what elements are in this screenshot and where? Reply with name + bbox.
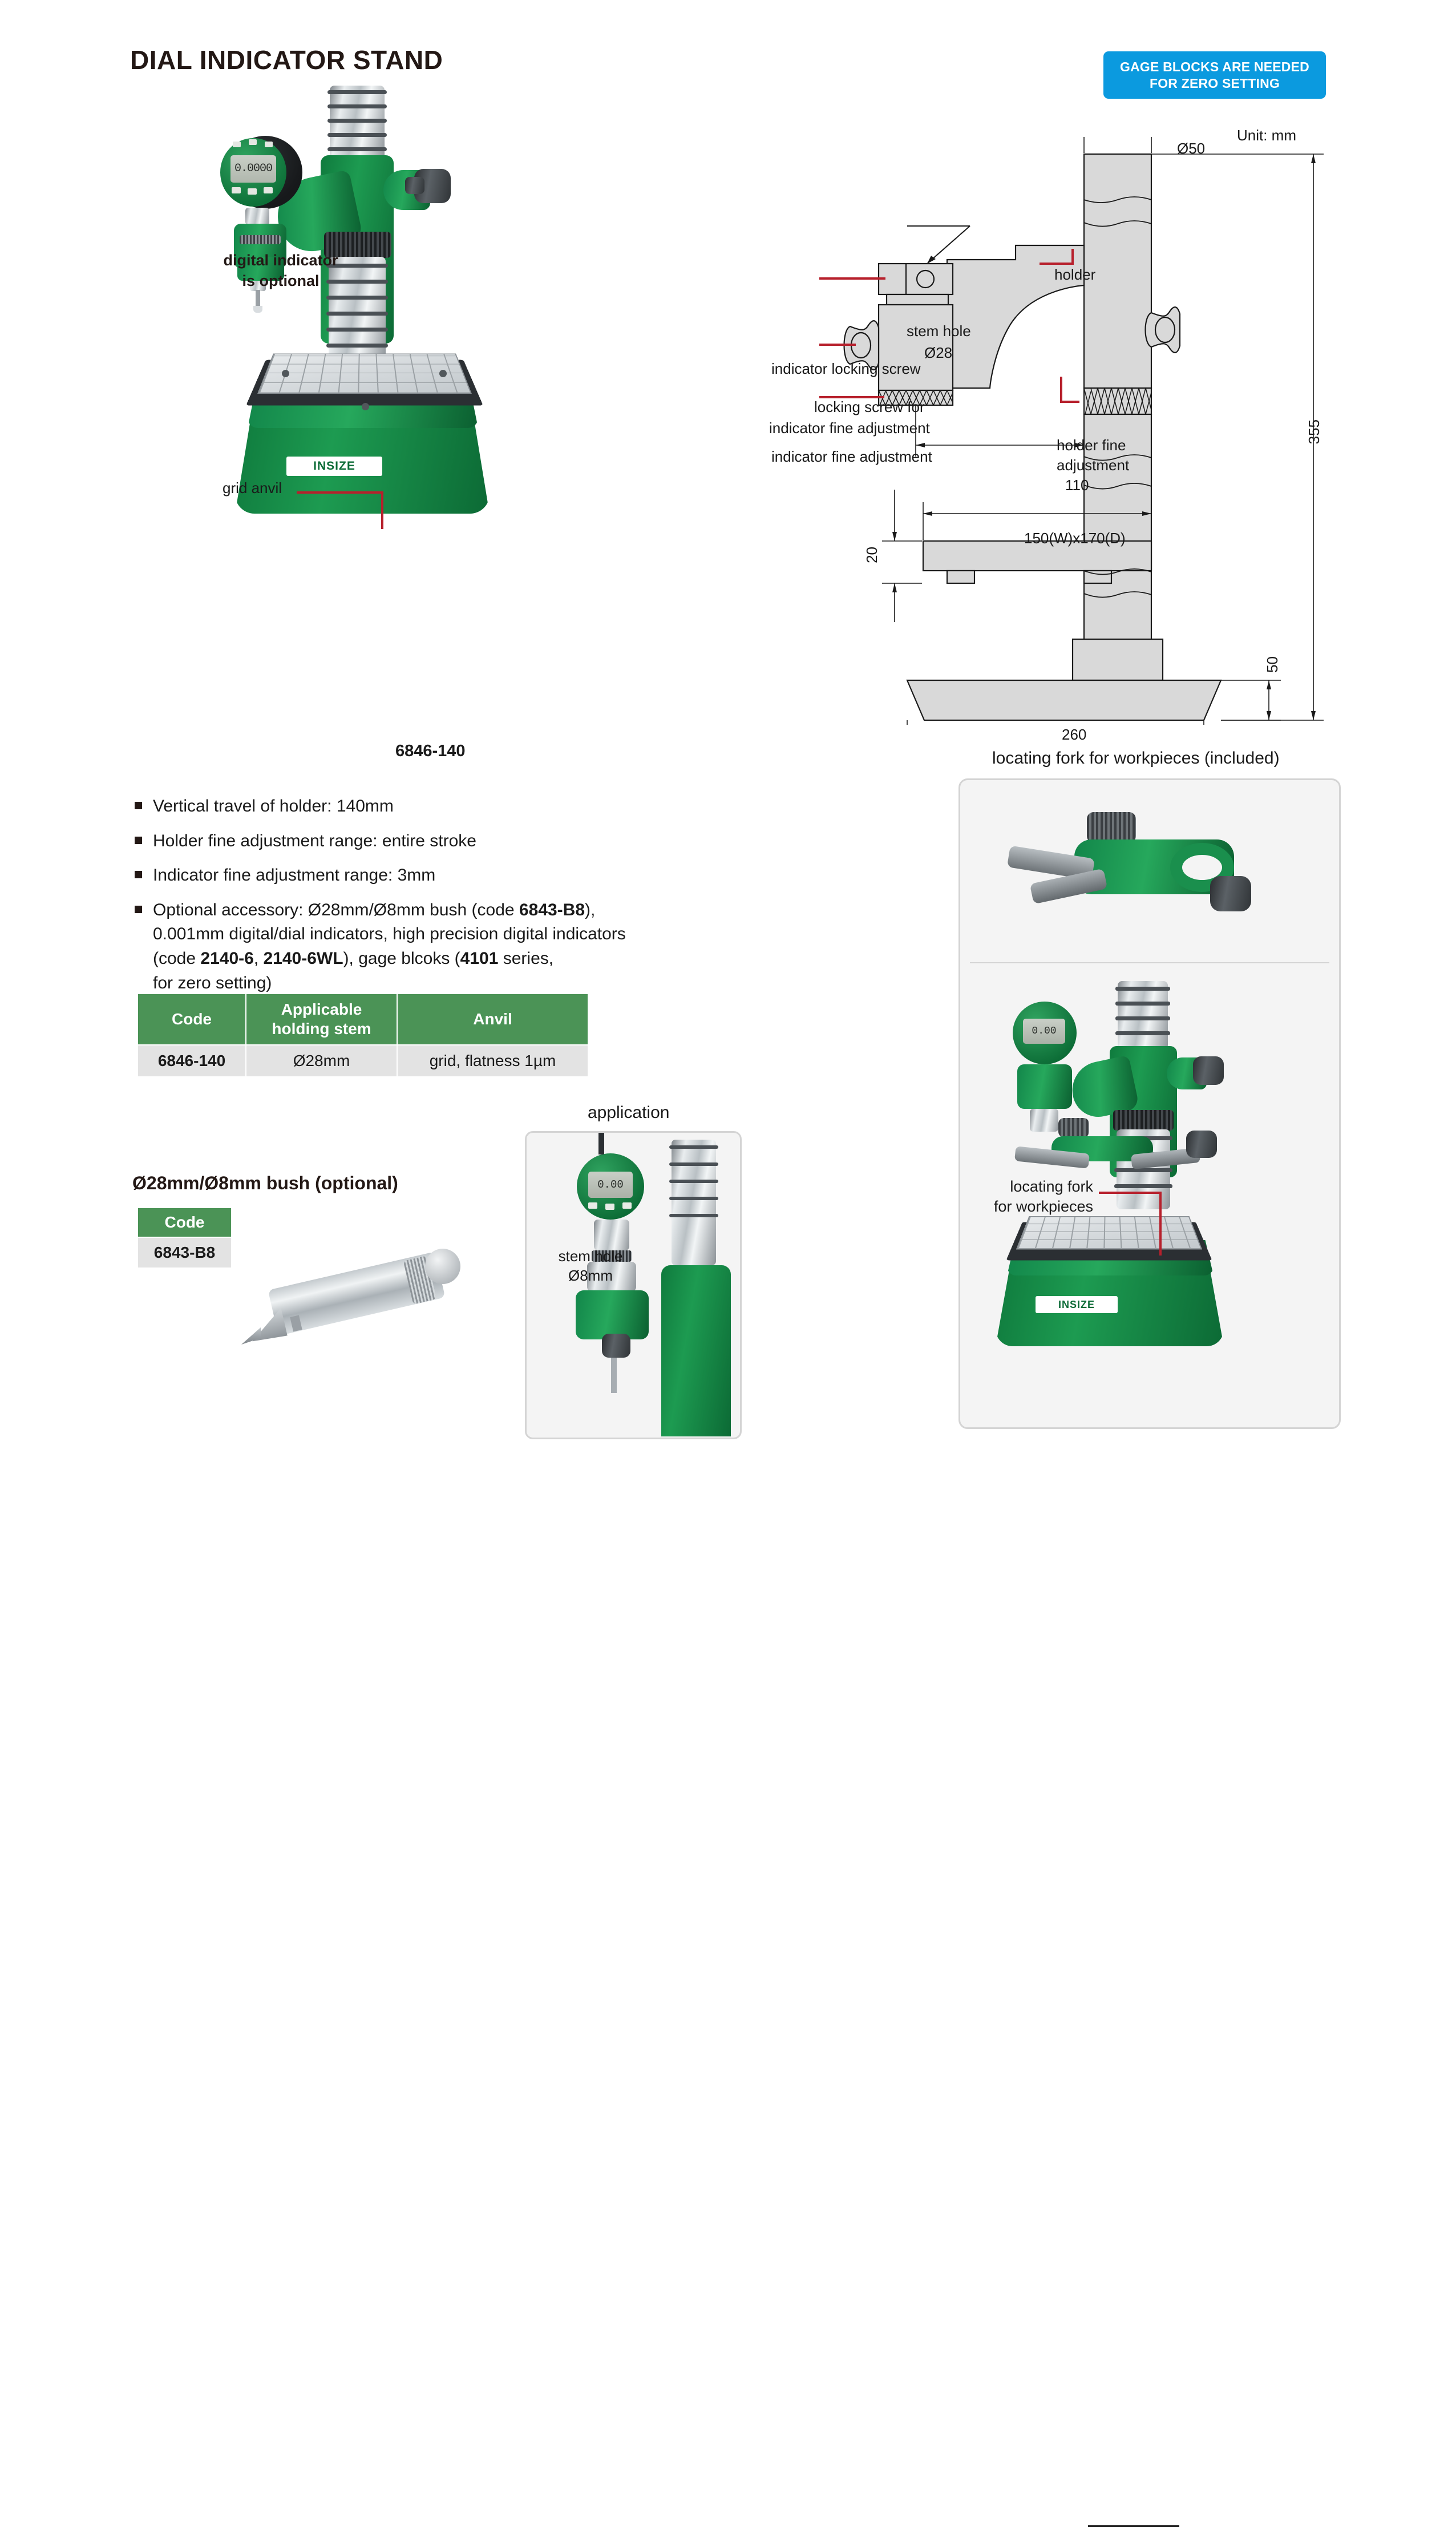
dimension-column-diameter: Ø50 [1177, 140, 1205, 158]
table-row: 6843-B8 [137, 1237, 232, 1268]
drawing-label-holder: holder [1054, 266, 1095, 284]
column-header-holding-stem: Applicable holding stem [246, 994, 397, 1045]
grid-anvil-leader-drop [381, 491, 383, 529]
drawing-label-locking-screw-fine-l1: locking screw for [814, 398, 925, 416]
cell-bush-code: 6843-B8 [137, 1237, 232, 1268]
cell-anvil: grid, flatness 1µm [397, 1045, 588, 1077]
fork-callout-line-2: for workpieces [990, 1197, 1093, 1217]
spec-item-vertical-travel: Vertical travel of holder: 140mm [132, 794, 771, 819]
cell-code: 6846-140 [137, 1045, 246, 1077]
application-title: application [588, 1103, 669, 1123]
stem-hole-line-1: stem hole [545, 1247, 636, 1266]
product-code-caption: 6846-140 [395, 742, 466, 761]
dimension-reach: 110 [1065, 477, 1089, 494]
fork-leader-vertical [1159, 1192, 1162, 1256]
banner-line-2: FOR ZERO SETTING [1109, 75, 1320, 92]
drawing-label-stem-hole-dia: Ø28 [924, 344, 952, 362]
holding-stem-line-2: holding stem [254, 1019, 389, 1039]
locating-fork-title: locating fork for workpieces (included) [992, 749, 1280, 768]
dimension-base-height: 50 [1264, 656, 1281, 673]
digital-indicator-optional-note: digital indicator is optional [212, 250, 349, 292]
table-header-row: Code Applicable holding stem Anvil [137, 994, 588, 1045]
spec-item-indicator-fine-adjust: Indicator fine adjustment range: 3mm [132, 863, 771, 888]
banner-line-1: GAGE BLOCKS ARE NEEDED [1109, 59, 1320, 75]
specification-list: Vertical travel of holder: 140mm Holder … [132, 794, 771, 1006]
indicator-display-value: 0.0000 [233, 162, 274, 175]
cell-holding-stem: Ø28mm [246, 1045, 397, 1077]
locating-fork-panel: 0.00 INSIZE [958, 778, 1341, 1429]
bush-code-table: Code 6843-B8 [137, 1207, 232, 1269]
bush-table-header-row: Code [137, 1208, 232, 1237]
fork-grid-anvil-plate [1016, 1216, 1203, 1250]
product-photo-6846-140: 0.0000 INSIZE [223, 86, 702, 730]
column-header-anvil: Anvil [397, 994, 588, 1045]
drawing-label-locking-screw-fine-l2: indicator fine adjustment [769, 419, 930, 437]
drawing-label-indicator-locking-screw: indicator locking screw [771, 360, 921, 378]
stem-hole-line-2: Ø8mm [545, 1266, 636, 1286]
grid-anvil-label: grid anvil [223, 479, 282, 497]
application-stem-hole-label: stem hole Ø8mm [545, 1247, 636, 1286]
drawing-label-holder-fine-l2: adjustment [1057, 457, 1129, 474]
column-header-bush-code: Code [137, 1208, 232, 1237]
dimension-table-size: 150(W)x170(D) [1024, 530, 1126, 547]
dimension-base-width: 260 [1062, 726, 1086, 744]
fork-leader-horizontal [1099, 1192, 1162, 1194]
dimension-total-height: 355 [1305, 419, 1323, 444]
fork-callout-line-1: locating fork [990, 1177, 1093, 1197]
spec-item-optional-accessory: Optional accessory: Ø28mm/Ø8mm bush (cod… [132, 898, 771, 995]
optional-note-line-1: digital indicator [212, 250, 349, 271]
spec-item-holder-fine-adjust: Holder fine adjustment range: entire str… [132, 829, 771, 854]
drawing-label-stem-hole: stem hole [907, 322, 971, 340]
dimension-table-thickness: 20 [863, 547, 881, 563]
fork-indicator-display-value: 0.00 [1024, 1026, 1064, 1037]
holding-stem-line-1: Applicable [254, 1000, 389, 1019]
column-header-code: Code [137, 994, 246, 1045]
bush-photo [237, 1216, 505, 1375]
fork-brand-logo: INSIZE [1036, 1296, 1118, 1313]
drawing-label-holder-fine-l1: holder fine [1057, 437, 1126, 454]
fork-panel-divider [970, 962, 1329, 963]
gage-blocks-banner: GAGE BLOCKS ARE NEEDED FOR ZERO SETTING [1103, 51, 1326, 99]
brand-logo: INSIZE [286, 457, 382, 476]
specification-table: Code Applicable holding stem Anvil 6846-… [137, 993, 589, 1077]
table-row: 6846-140 Ø28mm grid, flatness 1µm [137, 1045, 588, 1077]
drawing-label-indicator-fine-adjustment: indicator fine adjustment [771, 448, 932, 466]
page-title: DIAL INDICATOR STAND [130, 45, 443, 75]
application-display-value: 0.00 [589, 1178, 632, 1191]
optional-note-line-2: is optional [212, 271, 349, 291]
locating-fork-callout: locating fork for workpieces [990, 1177, 1093, 1217]
bush-section-title: Ø28mm/Ø8mm bush (optional) [132, 1173, 398, 1194]
grid-anvil-leader-line [297, 491, 383, 494]
